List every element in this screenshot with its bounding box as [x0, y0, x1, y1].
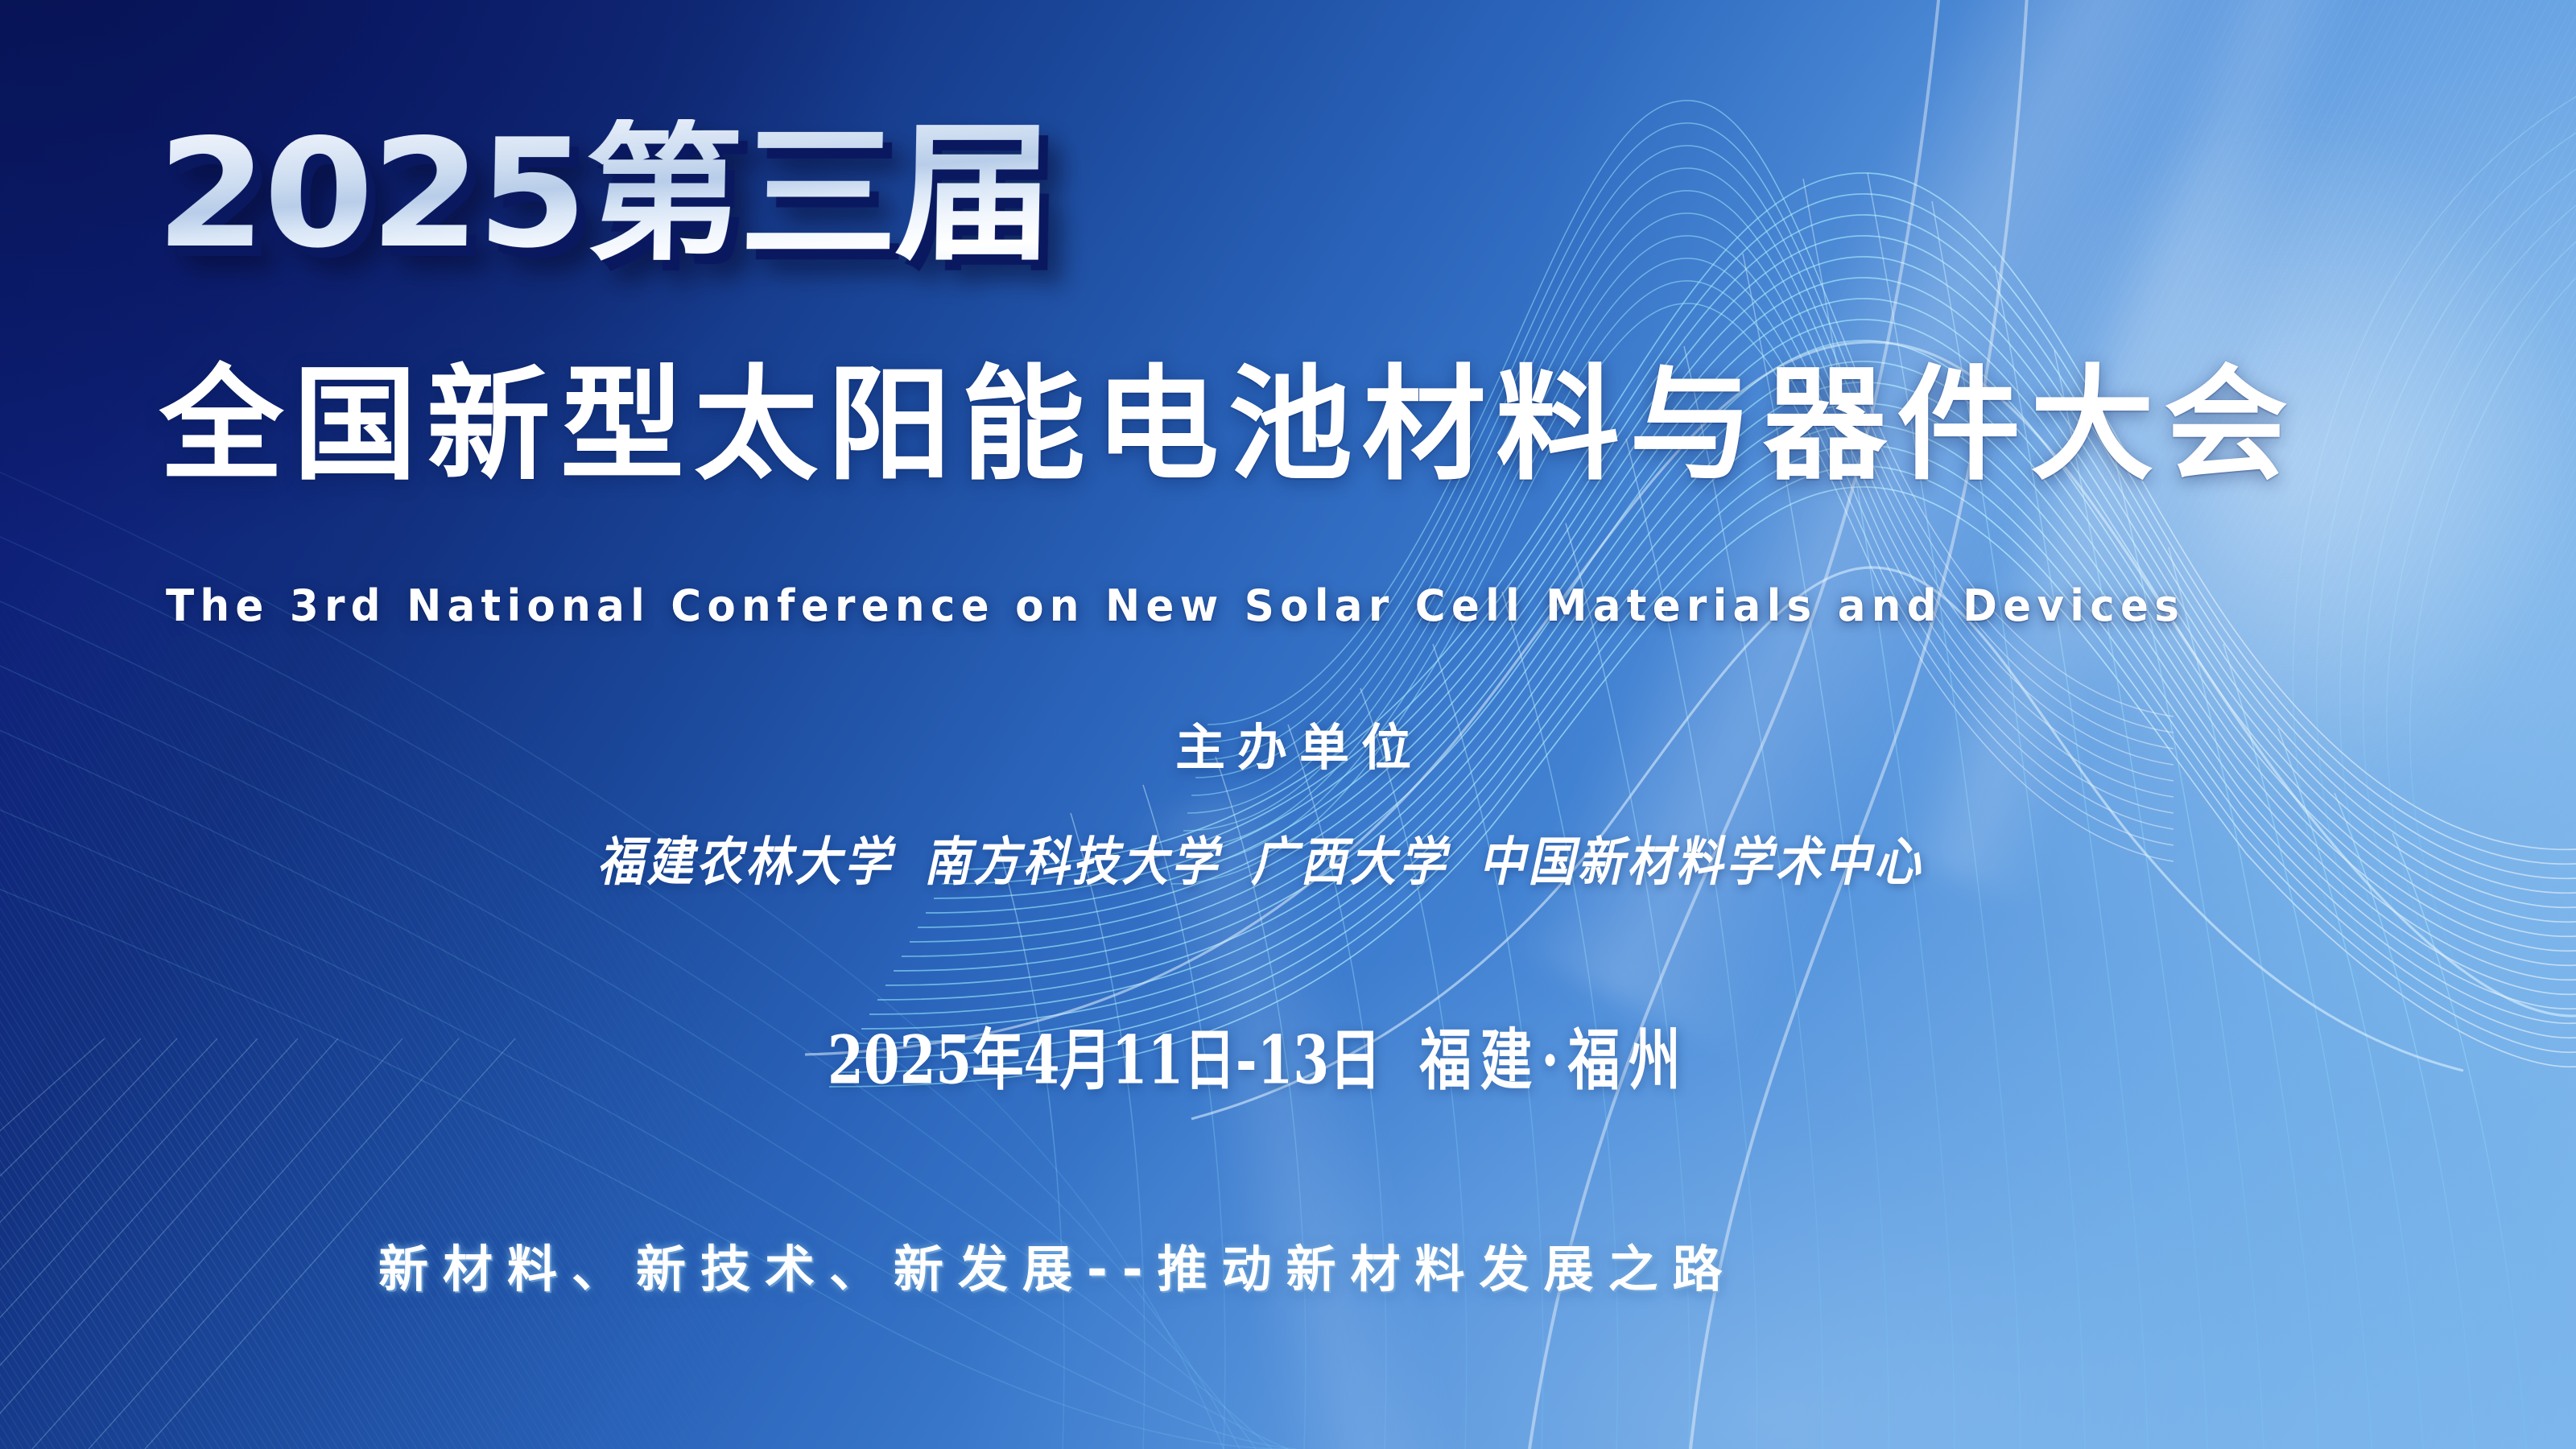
organizer-item: 福建农林大学: [597, 831, 894, 892]
page-title: 全国新型太阳能电池材料与器件大会: [159, 364, 2297, 488]
organizer-list: 福建农林大学南方科技大学广西大学中国新材料学术中心: [597, 836, 1923, 888]
event-slogan: 新材料、新技术、新发展--推动新材料发展之路: [378, 1245, 1736, 1294]
event-location: 福建·福州: [1419, 1021, 1689, 1100]
organizer-item: 广西大学: [1251, 831, 1449, 892]
organizer-item: 南方科技大学: [924, 831, 1220, 892]
headline-edition: 2025第三届: [155, 119, 1052, 269]
english-subtitle: The 3rd National Conference on New Solar…: [166, 584, 2185, 628]
organizer-section-label: 主办单位: [1175, 723, 1423, 773]
event-date-location: 2025年4月11日-13日福建·福州: [828, 1027, 1690, 1094]
organizer-item: 中国新材料学术中心: [1479, 831, 1923, 892]
conference-poster: 2025第三届 全国新型太阳能电池材料与器件大会 The 3rd Nationa…: [0, 0, 2576, 1449]
event-date: 2025年4月11日-13日: [828, 1021, 1381, 1100]
